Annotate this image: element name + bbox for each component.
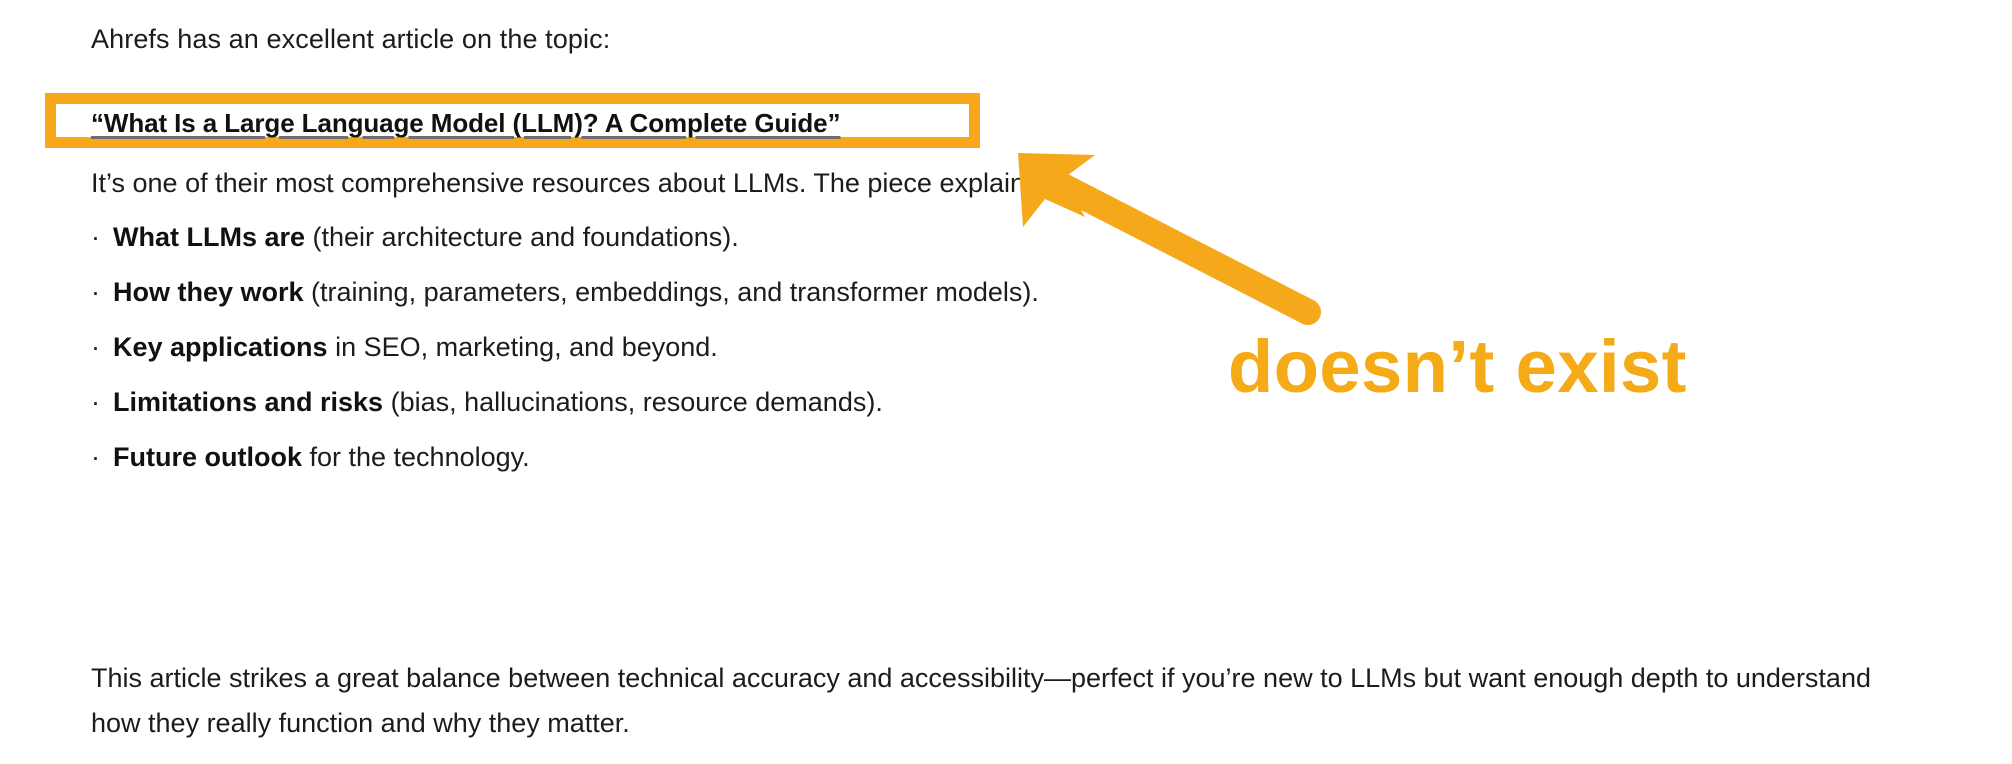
list-item-rest: (their architecture and foundations).	[305, 222, 739, 252]
list-item-rest: for the technology.	[302, 442, 530, 472]
list-item-text: What LLMs are (their architecture and fo…	[113, 220, 739, 254]
bullet-marker-icon: ·	[91, 440, 113, 474]
list-item-strong: Key applications	[113, 332, 328, 362]
list-item: · How they work (training, parameters, e…	[91, 275, 1391, 330]
document-canvas: Ahrefs has an excellent article on the t…	[0, 0, 2012, 764]
list-item-rest: (training, parameters, embeddings, and t…	[304, 277, 1039, 307]
link-heading-row[interactable]: “What Is a Large Language Model (LLM)? A…	[91, 108, 840, 138]
intro-line: Ahrefs has an excellent article on the t…	[91, 22, 610, 56]
list-item-strong: Future outlook	[113, 442, 302, 472]
bullet-marker-icon: ·	[91, 220, 113, 254]
list-item-strong: What LLMs are	[113, 222, 305, 252]
list-item: · Limitations and risks (bias, hallucina…	[91, 385, 1391, 440]
list-item-strong: How they work	[113, 277, 304, 307]
feature-bullet-list: · What LLMs are (their architecture and …	[91, 220, 1391, 495]
article-link[interactable]: “What Is a Large Language Model (LLM)? A…	[91, 108, 840, 138]
lead-paragraph: It’s one of their most comprehensive res…	[91, 166, 1046, 200]
list-item: · Key applications in SEO, marketing, an…	[91, 330, 1391, 385]
list-item-text: How they work (training, parameters, emb…	[113, 275, 1039, 309]
list-item: · Future outlook for the technology.	[91, 440, 1391, 495]
list-item-rest: (bias, hallucinations, resource demands)…	[383, 387, 883, 417]
list-item: · What LLMs are (their architecture and …	[91, 220, 1391, 275]
list-item-text: Key applications in SEO, marketing, and …	[113, 330, 718, 364]
bullet-marker-icon: ·	[91, 275, 113, 309]
list-item-text: Limitations and risks (bias, hallucinati…	[113, 385, 883, 419]
bullet-marker-icon: ·	[91, 385, 113, 419]
list-item-strong: Limitations and risks	[113, 387, 383, 417]
list-item-rest: in SEO, marketing, and beyond.	[328, 332, 718, 362]
bullet-marker-icon: ·	[91, 330, 113, 364]
list-item-text: Future outlook for the technology.	[113, 440, 530, 474]
closing-paragraph: This article strikes a great balance bet…	[91, 656, 1901, 746]
